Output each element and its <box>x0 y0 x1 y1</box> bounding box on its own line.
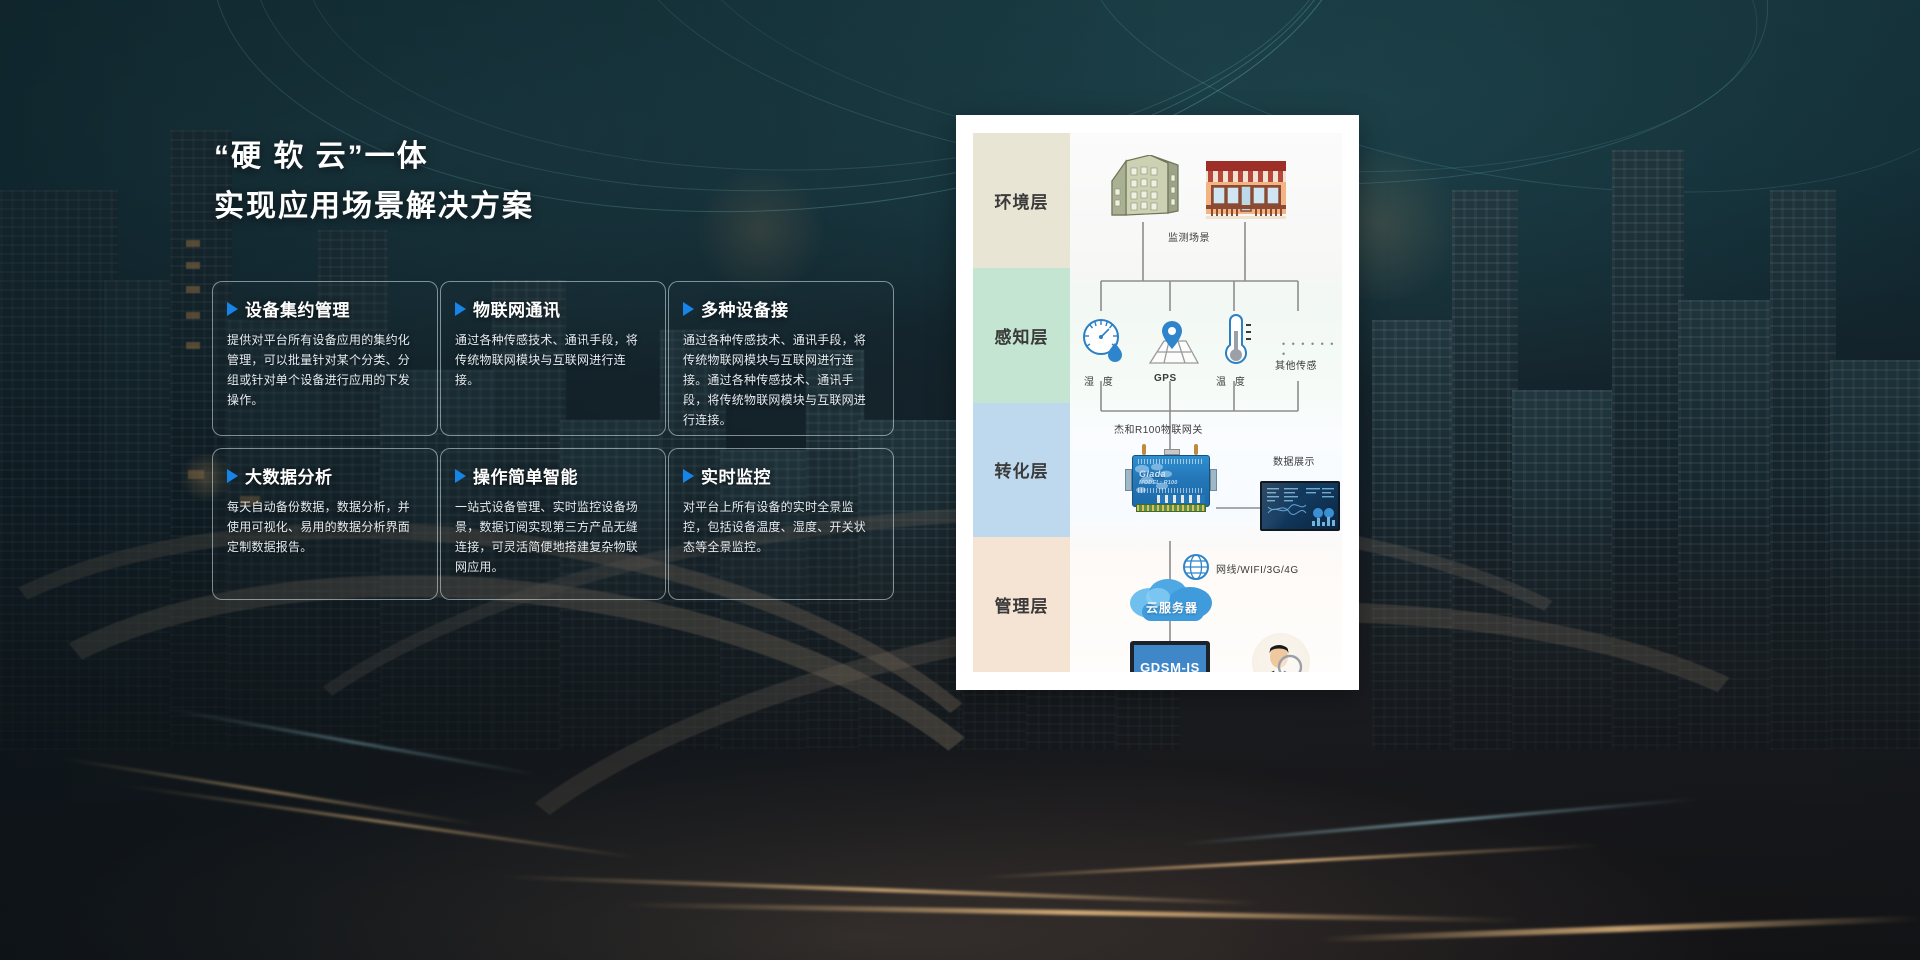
layer-label-conversion: 转化层 <box>973 403 1070 538</box>
card-title: 多种设备接 <box>701 296 789 321</box>
feature-card-realtime-monitoring[interactable]: 实时监控 对平台上所有设备的实时全景监控，包括设备温度、湿度、开关状态等全景监控… <box>668 448 894 600</box>
headline-block: “硬 软 云”一体 实现应用场景解决方案 <box>214 134 924 230</box>
card-title: 实时监控 <box>701 463 771 488</box>
gateway-antenna-icon <box>1194 444 1198 455</box>
humidity-sensor-label: 湿 度 <box>1084 373 1116 388</box>
page-title-line1: “硬 软 云”一体 <box>214 134 924 180</box>
feature-card-simple-smart-operation[interactable]: 操作简单智能 一站式设备管理、实时监控设备场景，数据订阅实现第三方产品无缝连接，… <box>440 448 666 600</box>
feature-card-device-management[interactable]: 设备集约管理 提供对平台所有设备应用的集约化管理，可以批量针对某个分类、分组或针… <box>212 281 438 436</box>
triangle-bullet-icon <box>227 302 238 316</box>
gateway-vent <box>1138 488 1204 493</box>
feature-card-multi-device-access[interactable]: 多种设备接 通过各种传感技术、通讯手段，将传统物联网模块与互联网进行连接。通过各… <box>668 281 894 436</box>
monitor-screen <box>1260 481 1340 531</box>
gateway-mount-tab <box>1210 469 1217 491</box>
scene-label: 监测场景 <box>1168 229 1210 244</box>
card-body: 每天自动备份数据，数据分析，并使用可视化、易用的数据分析界面定制数据报告。 <box>227 497 421 557</box>
data-display-monitor-icon <box>1260 481 1340 531</box>
page-title-line2: 实现应用场景解决方案 <box>214 184 924 230</box>
other-sensor-dots-icon: • • • • • • • <box>1282 339 1342 359</box>
gateway-label: 杰和R100物联网关 <box>1114 421 1203 436</box>
triangle-bullet-icon <box>683 469 694 483</box>
gps-label: GPS <box>1154 373 1177 384</box>
gateway-mount-tab <box>1125 469 1132 491</box>
card-header: 大数据分析 <box>227 463 421 488</box>
gateway-terminal-strip <box>1136 504 1206 512</box>
screen-glare <box>1262 483 1338 529</box>
card-header: 多种设备接 <box>683 296 877 321</box>
card-body: 通过各种传感技术、通讯手段，将传统物联网模块与互联网进行连接。通过各种传感技术、… <box>683 330 877 430</box>
other-sensor-label: 其他传感 <box>1275 357 1317 372</box>
iot-gateway-device-icon: Glada MODEL: R100 <box>1132 455 1210 507</box>
triangle-bullet-icon <box>227 469 238 483</box>
architecture-diagram-panel: 环境层 感知层 转化层 管理层 <box>956 115 1359 690</box>
feature-card-iot-communication[interactable]: 物联网通讯 通过各种传感技术、通讯手段，将传统物联网模块与互联网进行连接。 <box>440 281 666 436</box>
layer-legend-column: 环境层 感知层 转化层 管理层 <box>973 133 1070 672</box>
card-title: 设备集约管理 <box>245 296 350 321</box>
triangle-bullet-icon <box>683 302 694 316</box>
card-body: 对平台上所有设备的实时全景监控，包括设备温度、湿度、开关状态等全景监控。 <box>683 497 877 557</box>
card-title: 操作简单智能 <box>473 463 578 488</box>
layer-label-environment: 环境层 <box>973 133 1070 268</box>
gateway-antenna-icon <box>1142 444 1146 455</box>
card-title: 大数据分析 <box>245 463 333 488</box>
laptop-screen: GDSM-IS <box>1130 641 1210 672</box>
data-display-label: 数据展示 <box>1273 453 1315 468</box>
card-body: 通过各种传感技术、通讯手段，将传统物联网模块与互联网进行连接。 <box>455 330 649 390</box>
diagram-inner: 环境层 感知层 转化层 管理层 <box>973 133 1342 672</box>
laptop-icon: GDSM-IS <box>1130 641 1217 672</box>
triangle-bullet-icon <box>455 302 466 316</box>
gateway-body: Glada MODEL: R100 <box>1132 455 1210 507</box>
feature-card-grid: 设备集约管理 提供对平台所有设备应用的集约化管理，可以批量针对某个分类、分组或针… <box>212 281 917 600</box>
layer-label-management: 管理层 <box>973 537 1070 672</box>
layer-label-sensing: 感知层 <box>973 268 1070 403</box>
card-header: 物联网通讯 <box>455 296 649 321</box>
gateway-connector-row <box>1157 495 1205 503</box>
card-body: 提供对平台所有设备应用的集约化管理，可以批量针对某个分类、分组或针对单个设备进行… <box>227 330 421 410</box>
feature-card-big-data-analysis[interactable]: 大数据分析 每天自动备份数据，数据分析，并使用可视化、易用的数据分析界面定制数据… <box>212 448 438 600</box>
card-title: 物联网通讯 <box>473 296 561 321</box>
temperature-sensor-label: 温 度 <box>1216 373 1248 388</box>
operator-avatar-icon <box>1252 633 1310 672</box>
cloud-server-label: 云服务器 <box>1128 599 1216 616</box>
card-header: 实时监控 <box>683 463 877 488</box>
card-body: 一站式设备管理、实时监控设备场景，数据订阅实现第三方产品无缝连接，可灵活简便地搭… <box>455 497 649 577</box>
card-header: 设备集约管理 <box>227 296 421 321</box>
triangle-bullet-icon <box>455 469 466 483</box>
cloud-server-icon: 云服务器 <box>1128 577 1216 631</box>
card-header: 操作简单智能 <box>455 463 649 488</box>
diagram-stage: 监测场景 湿 度 <box>1070 133 1342 672</box>
network-label: 网线/WIFI/3G/4G <box>1216 561 1299 576</box>
laptop-app-label: GDSM-IS <box>1140 660 1200 673</box>
